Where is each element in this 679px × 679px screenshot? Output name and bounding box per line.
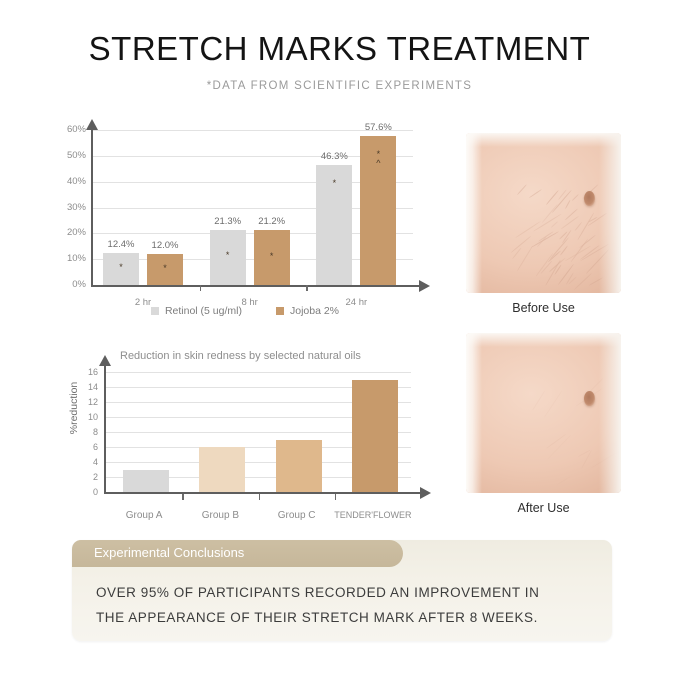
chart2-bar bbox=[123, 470, 169, 493]
stretch-mark bbox=[546, 190, 559, 205]
chart2-y-tick-label: 12 bbox=[74, 397, 98, 407]
legend-label-jojoba: Jojoba 2% bbox=[290, 305, 339, 317]
chart2-y-tick-label: 10 bbox=[74, 412, 98, 422]
stretch-mark bbox=[544, 391, 562, 418]
chart2-plot-area bbox=[106, 372, 411, 492]
navel bbox=[584, 191, 595, 206]
stretch-mark bbox=[515, 221, 541, 239]
navel bbox=[584, 391, 595, 406]
chart1-bar-value-label: 57.6% bbox=[354, 122, 402, 133]
stretch-mark bbox=[531, 231, 559, 248]
experimental-conclusions-box: Experimental Conclusions OVER 95% OF PAR… bbox=[72, 540, 612, 641]
chart1-significance-marker: * bbox=[210, 251, 246, 260]
chart2-y-tick-label: 6 bbox=[74, 442, 98, 452]
chart2-y-tick-label: 4 bbox=[74, 457, 98, 467]
stretch-mark bbox=[570, 239, 588, 263]
stretch-marks-overlay bbox=[466, 333, 621, 493]
stretch-mark bbox=[517, 184, 528, 195]
chart1-bar: * bbox=[254, 230, 290, 285]
page-title: STRETCH MARKS TREATMENT bbox=[0, 30, 679, 68]
chart1-bar-value-label: 21.2% bbox=[248, 216, 296, 227]
legend-item-jojoba: Jojoba 2% bbox=[276, 305, 339, 317]
chart2-y-tick-label: 16 bbox=[74, 367, 98, 377]
chart2-y-tick-label: 14 bbox=[74, 382, 98, 392]
chart2-x-tickmark bbox=[259, 494, 261, 500]
legend-swatch-jojoba bbox=[276, 307, 284, 315]
chart1-bar: *^ bbox=[360, 136, 396, 285]
chart1-plot-area: *12.4%*12.0%*21.3%*21.2%*46.3%*^57.6% bbox=[93, 130, 413, 285]
photo-edge-right bbox=[599, 333, 621, 493]
conclusions-header-text: Experimental Conclusions bbox=[94, 545, 244, 560]
infographic-page: STRETCH MARKS TREATMENT *DATA FROM SCIEN… bbox=[0, 0, 679, 679]
chart1-legend: Retinol (5 ug/ml) Jojoba 2% bbox=[60, 305, 430, 317]
chart1-bar-value-label: 46.3% bbox=[310, 151, 358, 162]
chart2-bar bbox=[276, 440, 322, 493]
chart1-bar: * bbox=[147, 254, 183, 285]
chart1-significance-marker: * bbox=[316, 179, 352, 188]
photo-panel-before: Before Use bbox=[466, 133, 621, 293]
chart1-bar: * bbox=[210, 230, 246, 285]
chart2-x-tick-label: Group A bbox=[100, 510, 188, 521]
chart1-significance-marker: * bbox=[147, 264, 183, 273]
photo-edge-right bbox=[599, 133, 621, 293]
stretch-mark bbox=[574, 222, 582, 231]
stretch-mark bbox=[574, 273, 592, 290]
photo-caption-after: After Use bbox=[466, 501, 621, 515]
chart2-x-tickmark bbox=[335, 494, 337, 500]
chart1-y-axis-arrow-icon bbox=[86, 119, 98, 130]
chart2-x-axis-arrow-icon bbox=[420, 487, 431, 499]
chart1-y-tick-label: 0% bbox=[52, 279, 86, 290]
chart1-y-tick-label: 10% bbox=[52, 253, 86, 264]
chart1-significance-marker: * bbox=[254, 252, 290, 261]
legend-swatch-retinol bbox=[151, 307, 159, 315]
chart1-y-tick-label: 60% bbox=[52, 124, 86, 135]
stretch-mark bbox=[551, 222, 559, 229]
chart2-x-tick-label: TENDER'FLOWER bbox=[329, 510, 417, 520]
chart-skin-redness-reduction: Reduction in skin redness by selected na… bbox=[58, 350, 433, 525]
chart1-significance-marker: * bbox=[103, 263, 139, 272]
chart1-x-tickmark bbox=[200, 285, 202, 291]
legend-item-retinol: Retinol (5 ug/ml) bbox=[151, 305, 242, 317]
chart1-bar-value-label: 12.4% bbox=[97, 239, 145, 250]
stretch-mark bbox=[565, 200, 571, 209]
photo-edge-left bbox=[466, 133, 482, 293]
chart1-y-tick-label: 40% bbox=[52, 176, 86, 187]
chart1-bar: * bbox=[316, 165, 352, 285]
photo-caption-before: Before Use bbox=[466, 301, 621, 315]
stretch-mark bbox=[572, 194, 579, 201]
chart1-bar-value-label: 21.3% bbox=[204, 216, 252, 227]
chart1-y-tick-label: 30% bbox=[52, 202, 86, 213]
chart2-x-tickmark bbox=[182, 494, 184, 500]
page-subtitle: *DATA FROM SCIENTIFIC EXPERIMENTS bbox=[0, 80, 679, 92]
chart1-bar: * bbox=[103, 253, 139, 285]
photo-after bbox=[466, 333, 621, 493]
chart2-title: Reduction in skin redness by selected na… bbox=[120, 350, 361, 362]
chart2-y-tick-label: 2 bbox=[74, 472, 98, 482]
stretch-mark bbox=[532, 390, 545, 410]
chart2-x-tick-label: Group C bbox=[253, 510, 341, 521]
photo-edge-top bbox=[466, 333, 621, 347]
chart1-bar-value-label: 12.0% bbox=[141, 240, 189, 251]
chart1-x-tickmark bbox=[306, 285, 308, 291]
chart-efficacy-over-time: *12.4%*12.0%*21.3%*21.2%*46.3%*^57.6% 0%… bbox=[60, 120, 430, 310]
chart2-bar bbox=[199, 447, 245, 492]
chart2-y-tick-label: 0 bbox=[74, 487, 98, 497]
legend-label-retinol: Retinol (5 ug/ml) bbox=[165, 305, 242, 317]
photo-before bbox=[466, 133, 621, 293]
chart2-x-axis bbox=[104, 492, 422, 494]
chart2-x-tick-label: Group B bbox=[176, 510, 264, 521]
conclusions-line-1: OVER 95% OF PARTICIPANTS RECORDED AN IMP… bbox=[96, 585, 539, 600]
stretch-marks-overlay bbox=[466, 133, 621, 293]
chart2-gridline bbox=[106, 372, 411, 373]
photo-edge-left bbox=[466, 333, 482, 493]
conclusions-line-2: THE APPEARANCE OF THEIR STRETCH MARK AFT… bbox=[96, 610, 538, 625]
stretch-mark bbox=[556, 476, 570, 485]
photo-edge-top bbox=[466, 133, 621, 147]
chart1-y-tick-label: 50% bbox=[52, 150, 86, 161]
chart1-y-tick-label: 20% bbox=[52, 227, 86, 238]
chart2-y-axis-arrow-icon bbox=[99, 355, 111, 366]
chart1-x-axis bbox=[91, 285, 421, 287]
chart1-significance-marker: *^ bbox=[360, 150, 396, 168]
chart1-x-axis-arrow-icon bbox=[419, 280, 430, 292]
chart2-y-tick-label: 8 bbox=[74, 427, 98, 437]
stretch-mark bbox=[528, 189, 541, 199]
chart2-bar bbox=[352, 380, 398, 493]
photo-panel-after: After Use bbox=[466, 333, 621, 493]
